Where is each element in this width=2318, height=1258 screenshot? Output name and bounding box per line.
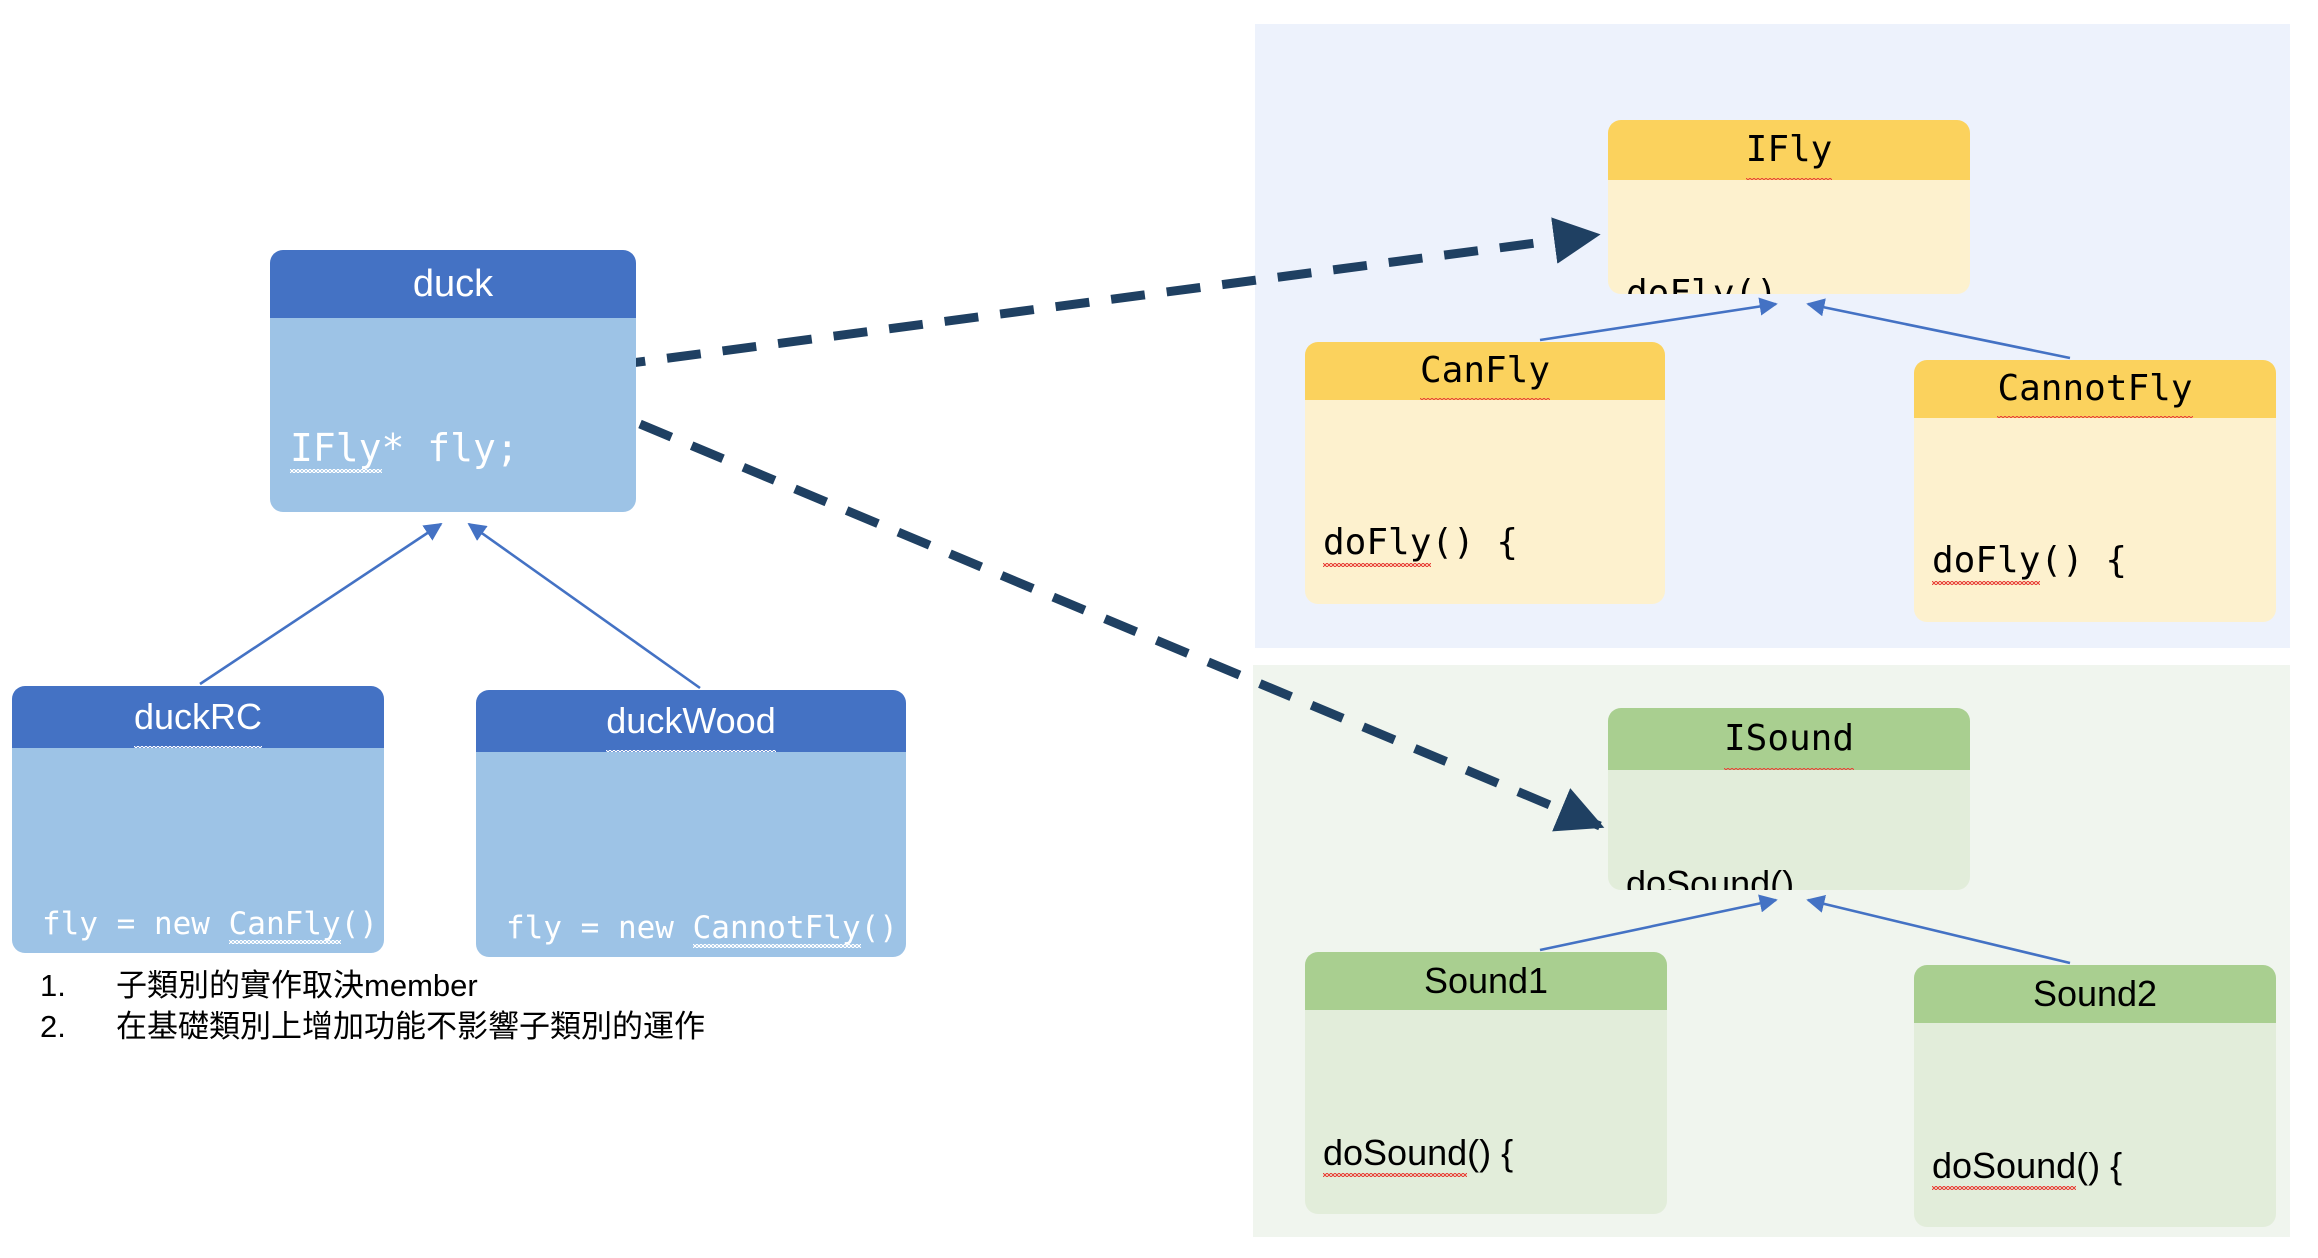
- note-item: 1. 子類別的實作取決member: [40, 966, 705, 1007]
- type-ref-cannotfly: CannotFly: [693, 910, 861, 946]
- type-ref-ifly: IFly: [290, 425, 382, 471]
- member-line: doSound() {: [1932, 1143, 2276, 1188]
- class-title-text: CanFly: [1420, 342, 1550, 400]
- member-line: doSound() {: [1323, 1130, 1667, 1175]
- type-ref-canfly: CanFly: [229, 906, 341, 942]
- class-title-ifly: IFly: [1608, 120, 1970, 180]
- note-text: 在基礎類別上增加功能不影響子類別的運作: [116, 1007, 705, 1048]
- class-box-duckrc[interactable]: duckRC fly = new CanFly(): [12, 686, 384, 953]
- class-title-text: ISound: [1724, 708, 1854, 770]
- link-duckrc-duck: [200, 524, 441, 684]
- class-box-ifly[interactable]: IFly doFly() …: [1608, 120, 1970, 294]
- method-dofly: doFly: [1626, 273, 1734, 294]
- class-title-text: duckRC: [134, 686, 262, 748]
- class-box-duckwood[interactable]: duckWood fly = new CannotFly(): [476, 690, 906, 957]
- note-number: 1.: [40, 966, 116, 1007]
- member-line: fly = new CannotFly(): [506, 910, 906, 946]
- class-title-isound: ISound: [1608, 708, 1970, 770]
- class-title-canfly: CanFly: [1305, 342, 1665, 400]
- method-dosound: doSound: [1323, 1130, 1467, 1175]
- method-dosound: doSound: [1932, 1143, 2076, 1188]
- class-members-cannotfly: doFly() { “Cannot fly” }: [1914, 418, 2276, 622]
- class-title-duckwood: duckWood: [476, 690, 906, 752]
- method-dosound: doSound: [1626, 863, 1770, 890]
- class-members-ifly: doFly() …: [1608, 180, 1970, 294]
- method-dofly: doFly: [1932, 538, 2040, 583]
- class-title-text: CannotFly: [1997, 360, 2192, 418]
- method-dofly: doFly: [1323, 520, 1431, 565]
- class-title-cannotfly: CannotFly: [1914, 360, 2276, 418]
- note-item: 2. 在基礎類別上增加功能不影響子類別的運作: [40, 1007, 705, 1048]
- member-line: doFly(): [1626, 273, 1970, 294]
- class-box-canfly[interactable]: CanFly doFly() { “Can fly” }: [1305, 342, 1665, 604]
- member-line: doFly() {: [1323, 520, 1665, 565]
- class-title-text: duckWood: [606, 690, 775, 752]
- member-rest: * fly;: [382, 426, 519, 470]
- class-box-duck[interactable]: duck IFly* fly; Isound* sound; …: [270, 250, 636, 512]
- class-title-sound2: Sound2: [1914, 965, 2276, 1023]
- member-line: doSound(): [1626, 863, 1970, 890]
- class-title-duck: duck: [270, 250, 636, 318]
- note-number: 2.: [40, 1007, 116, 1048]
- member-line: fly = new CanFly(): [42, 906, 384, 942]
- class-box-isound[interactable]: ISound doSound() …: [1608, 708, 1970, 890]
- class-title-duckrc: duckRC: [12, 686, 384, 748]
- class-members-duckrc: fly = new CanFly(): [12, 748, 384, 953]
- member-line: IFly* fly;: [290, 425, 616, 471]
- class-box-cannotfly[interactable]: CannotFly doFly() { “Cannot fly” }: [1914, 360, 2276, 622]
- note-text: 子類別的實作取決member: [116, 966, 478, 1007]
- class-title-sound1: Sound1: [1305, 952, 1667, 1010]
- class-members-canfly: doFly() { “Can fly” }: [1305, 400, 1665, 604]
- class-box-sound2[interactable]: Sound2 doSound() { “Sound2” }: [1914, 965, 2276, 1227]
- class-members-isound: doSound() …: [1608, 770, 1970, 890]
- notes-list: 1. 子類別的實作取決member 2. 在基礎類別上增加功能不影響子類別的運作: [40, 966, 705, 1048]
- link-duckwood-duck: [469, 524, 700, 688]
- class-members-duckwood: fly = new CannotFly(): [476, 752, 906, 957]
- class-members-duck: IFly* fly; Isound* sound; …: [270, 318, 636, 512]
- class-box-sound1[interactable]: Sound1 doSound() { “Sound1” }: [1305, 952, 1667, 1214]
- member-line: doFly() {: [1932, 538, 2276, 583]
- class-title-text: IFly: [1746, 120, 1833, 180]
- diagram-canvas: duck IFly* fly; Isound* sound; … duckRC …: [0, 0, 2318, 1258]
- class-members-sound1: doSound() { “Sound1” }: [1305, 1010, 1667, 1214]
- class-members-sound2: doSound() { “Sound2” }: [1914, 1023, 2276, 1227]
